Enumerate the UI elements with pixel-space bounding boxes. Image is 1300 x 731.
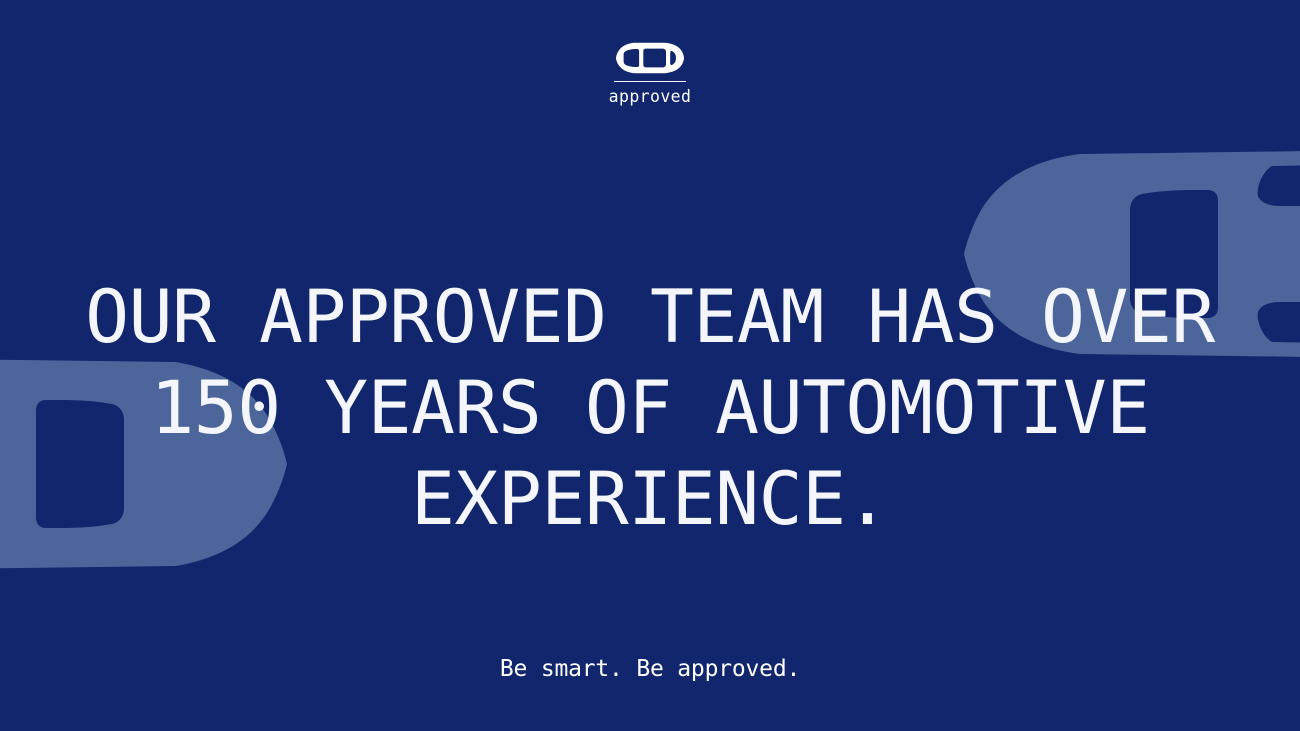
- slide-canvas: approved OUR APPROVED TEAM HAS OVER 150 …: [0, 0, 1300, 731]
- car-top-view-icon: [616, 42, 684, 74]
- logo-divider: [614, 81, 686, 82]
- headline-line-2: 150 YEARS OF AUTOMOTIVE: [0, 363, 1300, 454]
- headline-line-3: EXPERIENCE.: [0, 454, 1300, 545]
- logo-wordmark: approved: [609, 89, 692, 106]
- tagline: Be smart. Be approved.: [0, 655, 1300, 683]
- headline: OUR APPROVED TEAM HAS OVER 150 YEARS OF …: [0, 272, 1300, 545]
- headline-line-1: OUR APPROVED TEAM HAS OVER: [0, 272, 1300, 363]
- brand-logo: approved: [0, 42, 1300, 106]
